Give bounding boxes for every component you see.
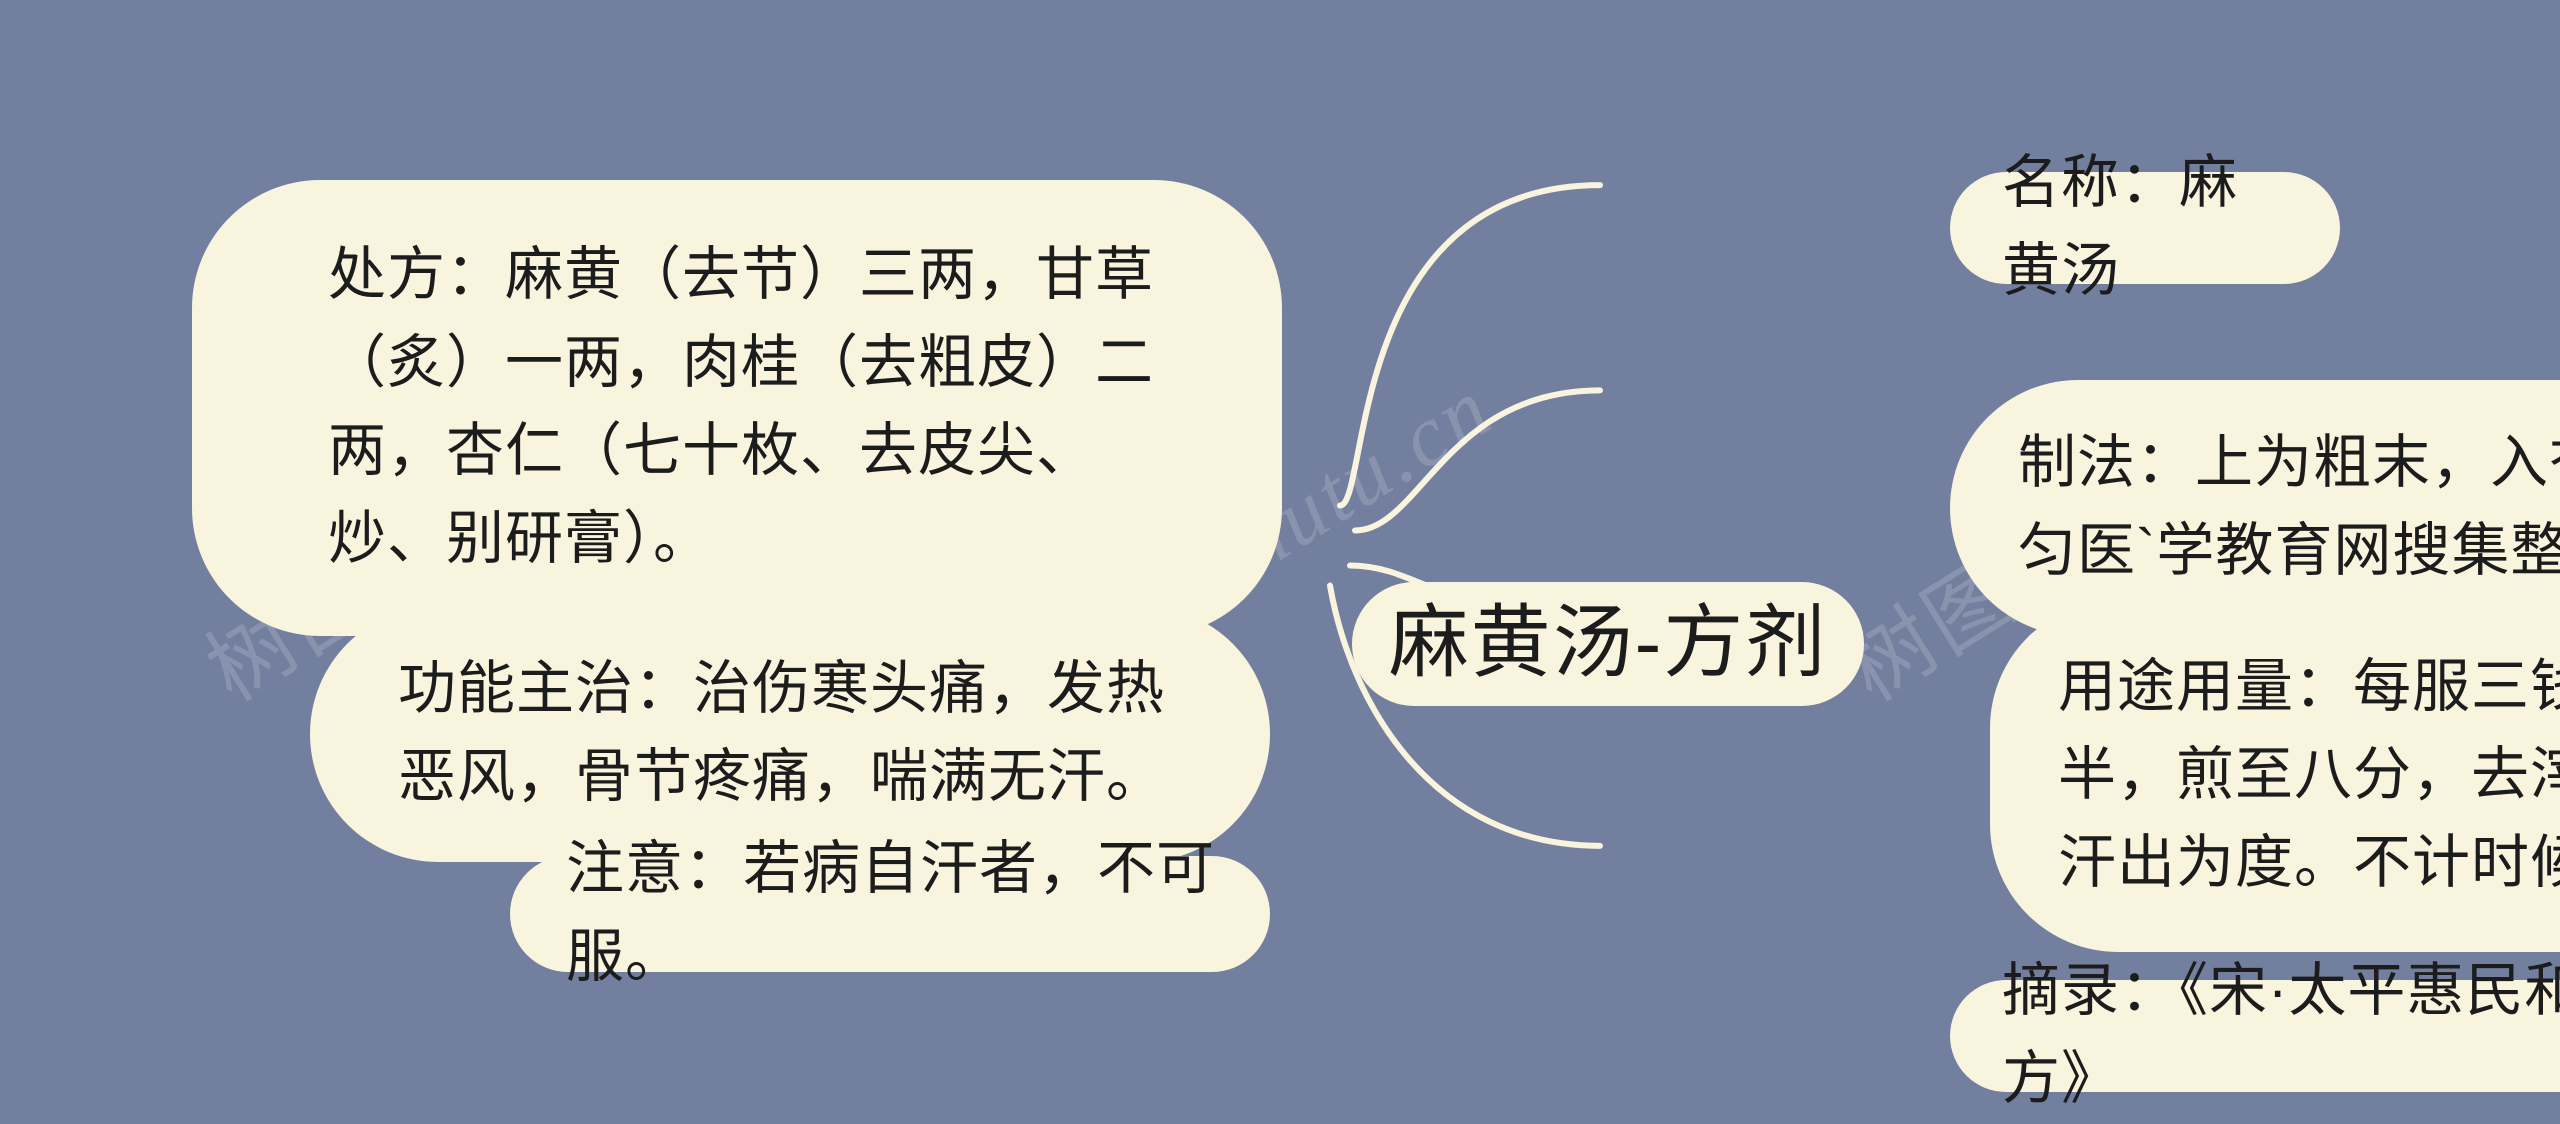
node-indications[interactable]: 功能主治：治伤寒头痛，发热恶风，骨节疼痛，喘满无汗。	[310, 606, 1270, 862]
node-root-label: 麻黄汤-方剂	[1352, 583, 1864, 705]
node-source-label: 摘录：《宋·太平惠民和剂局方》	[2002, 948, 2560, 1124]
connector-root-to-name	[1340, 185, 1600, 505]
node-preparation[interactable]: 制法：上为粗末，入杏仁膏令匀医`学教育网搜集整理。	[1950, 380, 2560, 636]
node-name-label: 名称：麻黄汤	[2002, 140, 2292, 316]
node-prescription-label: 处方：麻黄（去节）三两，甘草（炙）一两，肉桂（去粗皮）二两，杏仁（七十枚、去皮尖…	[328, 232, 1198, 585]
node-prescription[interactable]: 处方：麻黄（去节）三两，甘草（炙）一两，肉桂（去粗皮）二两，杏仁（七十枚、去皮尖…	[192, 180, 1282, 637]
node-source[interactable]: 摘录：《宋·太平惠民和剂局方》	[1950, 980, 2560, 1092]
node-dosage-label: 用途用量：每服三钱，水一盏半，煎至八分，去滓，温服，以汗出为度。不计时候。	[2058, 644, 2560, 908]
node-caution[interactable]: 注意：若病自汗者，不可服。	[510, 856, 1270, 972]
node-caution-label: 注意：若病自汗者，不可服。	[566, 826, 1218, 1002]
node-indications-label: 功能主治：治伤寒头痛，发热恶风，骨节疼痛，喘满无汗。	[398, 646, 1202, 822]
connector-root-to-preparation	[1355, 390, 1600, 530]
node-name[interactable]: 名称：麻黄汤	[1950, 172, 2340, 284]
node-dosage[interactable]: 用途用量：每服三钱，水一盏半，煎至八分，去滓，温服，以汗出为度。不计时候。	[1990, 600, 2560, 952]
node-root[interactable]: 麻黄汤-方剂	[1352, 582, 1864, 706]
mindmap-canvas: 处方：麻黄（去节）三两，甘草（炙）一两，肉桂（去粗皮）二两，杏仁（七十枚、去皮尖…	[0, 0, 2560, 1028]
node-preparation-label: 制法：上为粗末，入杏仁膏令匀医`学教育网搜集整理。	[2018, 420, 2560, 596]
